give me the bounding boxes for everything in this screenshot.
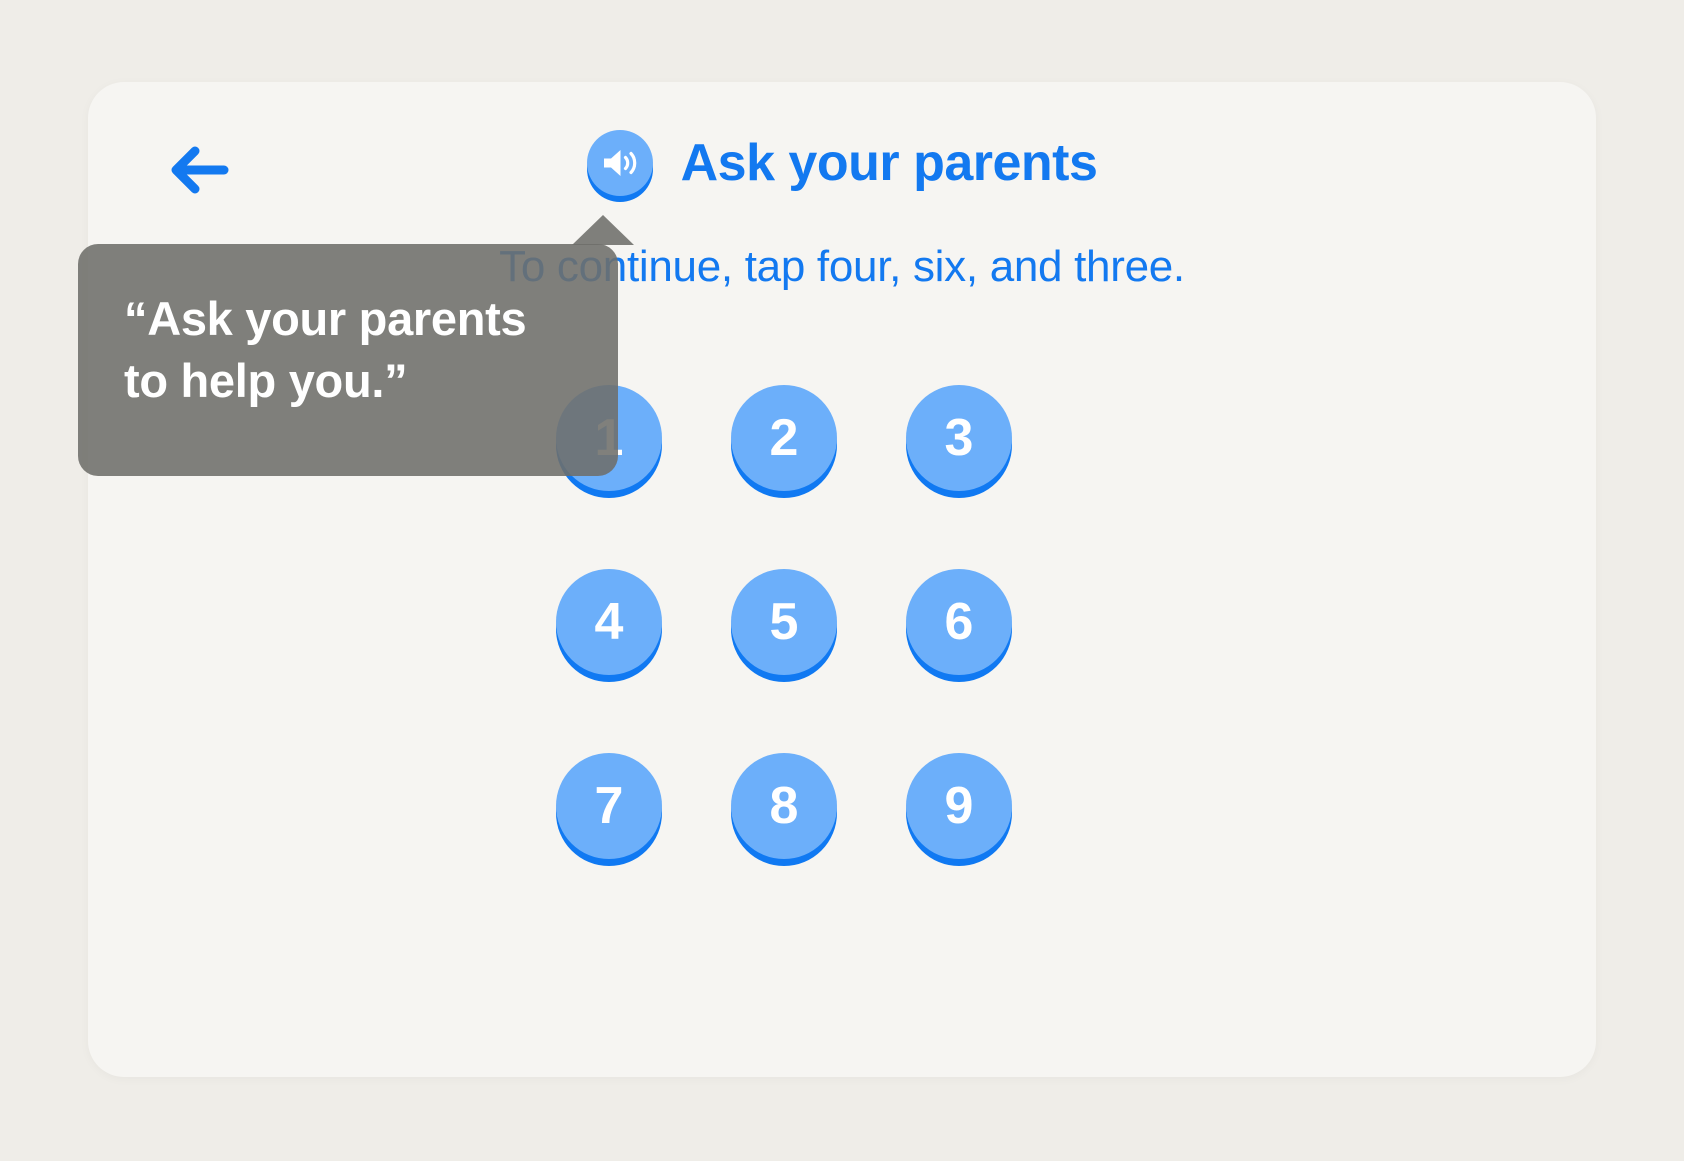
number-button-3[interactable]: 3 bbox=[906, 385, 1012, 491]
arrow-left-icon bbox=[168, 144, 230, 196]
speaker-wave-icon bbox=[600, 146, 640, 180]
title-row: Ask your parents bbox=[88, 130, 1596, 196]
number-button-4[interactable]: 4 bbox=[556, 569, 662, 675]
speaker-button[interactable] bbox=[587, 130, 653, 196]
tooltip-tail-icon bbox=[572, 215, 634, 245]
number-button-5[interactable]: 5 bbox=[731, 569, 837, 675]
number-button-8[interactable]: 8 bbox=[731, 753, 837, 859]
card-header: Ask your parents bbox=[88, 82, 1596, 222]
number-button-9[interactable]: 9 bbox=[906, 753, 1012, 859]
tooltip-text: “Ask your parents to help you.” bbox=[124, 288, 578, 412]
number-button-2[interactable]: 2 bbox=[731, 385, 837, 491]
number-button-7[interactable]: 7 bbox=[556, 753, 662, 859]
captcha-card: Ask your parents To continue, tap four, … bbox=[88, 82, 1596, 1077]
back-button[interactable] bbox=[168, 144, 230, 196]
speech-tooltip: “Ask your parents to help you.” bbox=[78, 244, 618, 476]
number-button-6[interactable]: 6 bbox=[906, 569, 1012, 675]
page-title: Ask your parents bbox=[681, 137, 1098, 189]
number-pad: 1 2 3 4 5 6 7 8 9 bbox=[556, 385, 1012, 859]
